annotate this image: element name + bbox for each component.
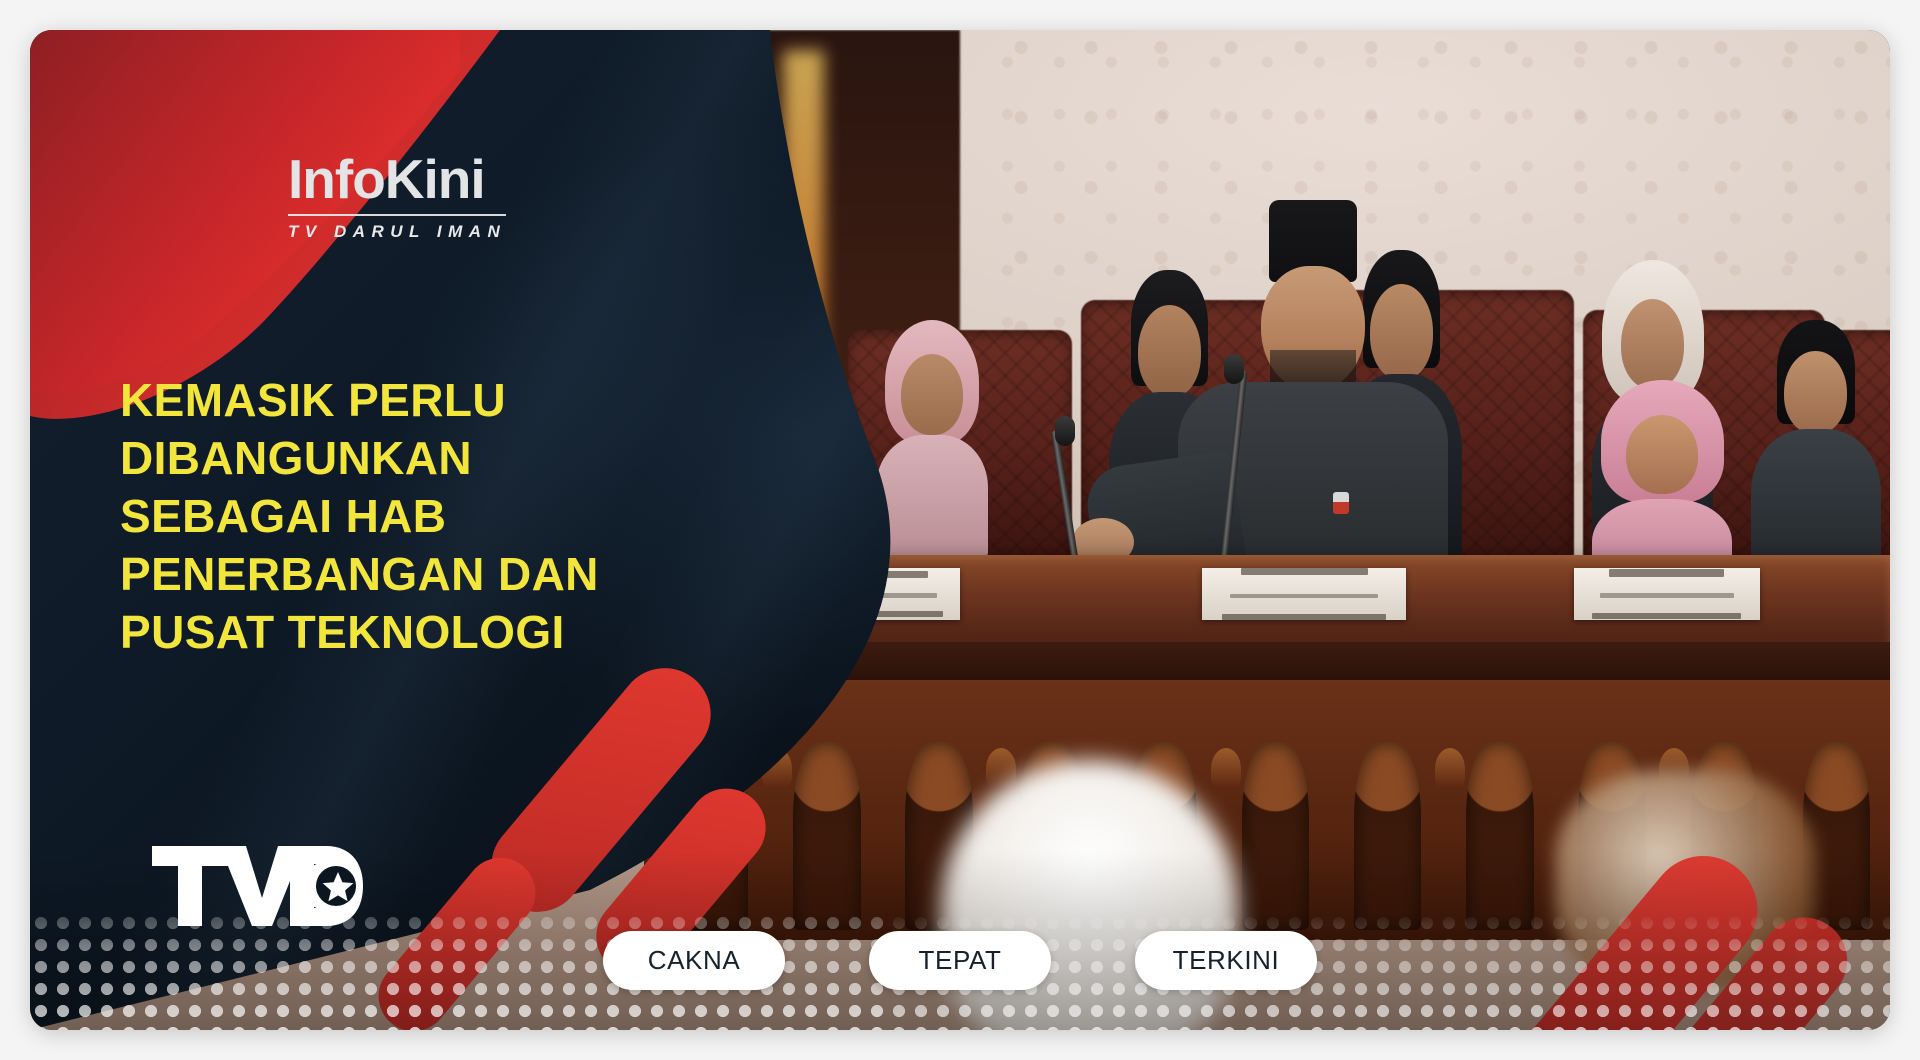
tagline-pill-group: CAKNA TEPAT TERKINI (30, 931, 1890, 990)
headline-line-1: KEMASIK PERLU (120, 372, 780, 430)
attendee (1751, 320, 1881, 580)
headline-line-4: PENERBANGAN DAN (120, 546, 780, 604)
brand-subtitle: TV DARUL IMAN (288, 222, 506, 242)
face (1626, 415, 1699, 494)
tagline-pill-terkini[interactable]: TERKINI (1135, 931, 1317, 990)
headline-line-2: DIBANGUNKAN (120, 430, 780, 488)
nameplate-right (1574, 568, 1760, 620)
brand-lockup: InfoKini TV DARUL IMAN (288, 152, 506, 242)
lapel-badge (1333, 492, 1349, 514)
attendee (876, 320, 988, 560)
tagline-pill-cakna[interactable]: CAKNA (603, 931, 785, 990)
microphone-head (1224, 354, 1244, 384)
news-card: InfoKini TV DARUL IMAN KEMASIK PERLU DIB… (30, 30, 1890, 1030)
headline: KEMASIK PERLU DIBANGUNKAN SEBAGAI HAB PE… (120, 372, 780, 662)
tvd-logo (150, 842, 365, 930)
face (1784, 351, 1846, 434)
brand-title: InfoKini (288, 152, 506, 207)
nameplate-center (1202, 568, 1407, 620)
headline-line-5: PUSAT TEKNOLOGI (120, 604, 780, 662)
microphone-head (1055, 416, 1075, 446)
face (901, 354, 963, 436)
tagline-pill-tepat[interactable]: TEPAT (869, 931, 1051, 990)
face (1621, 299, 1684, 389)
torso (876, 435, 988, 560)
headline-line-3: SEBAGAI HAB (120, 488, 780, 546)
brand-divider (288, 214, 506, 216)
main-speaker (1146, 200, 1481, 600)
